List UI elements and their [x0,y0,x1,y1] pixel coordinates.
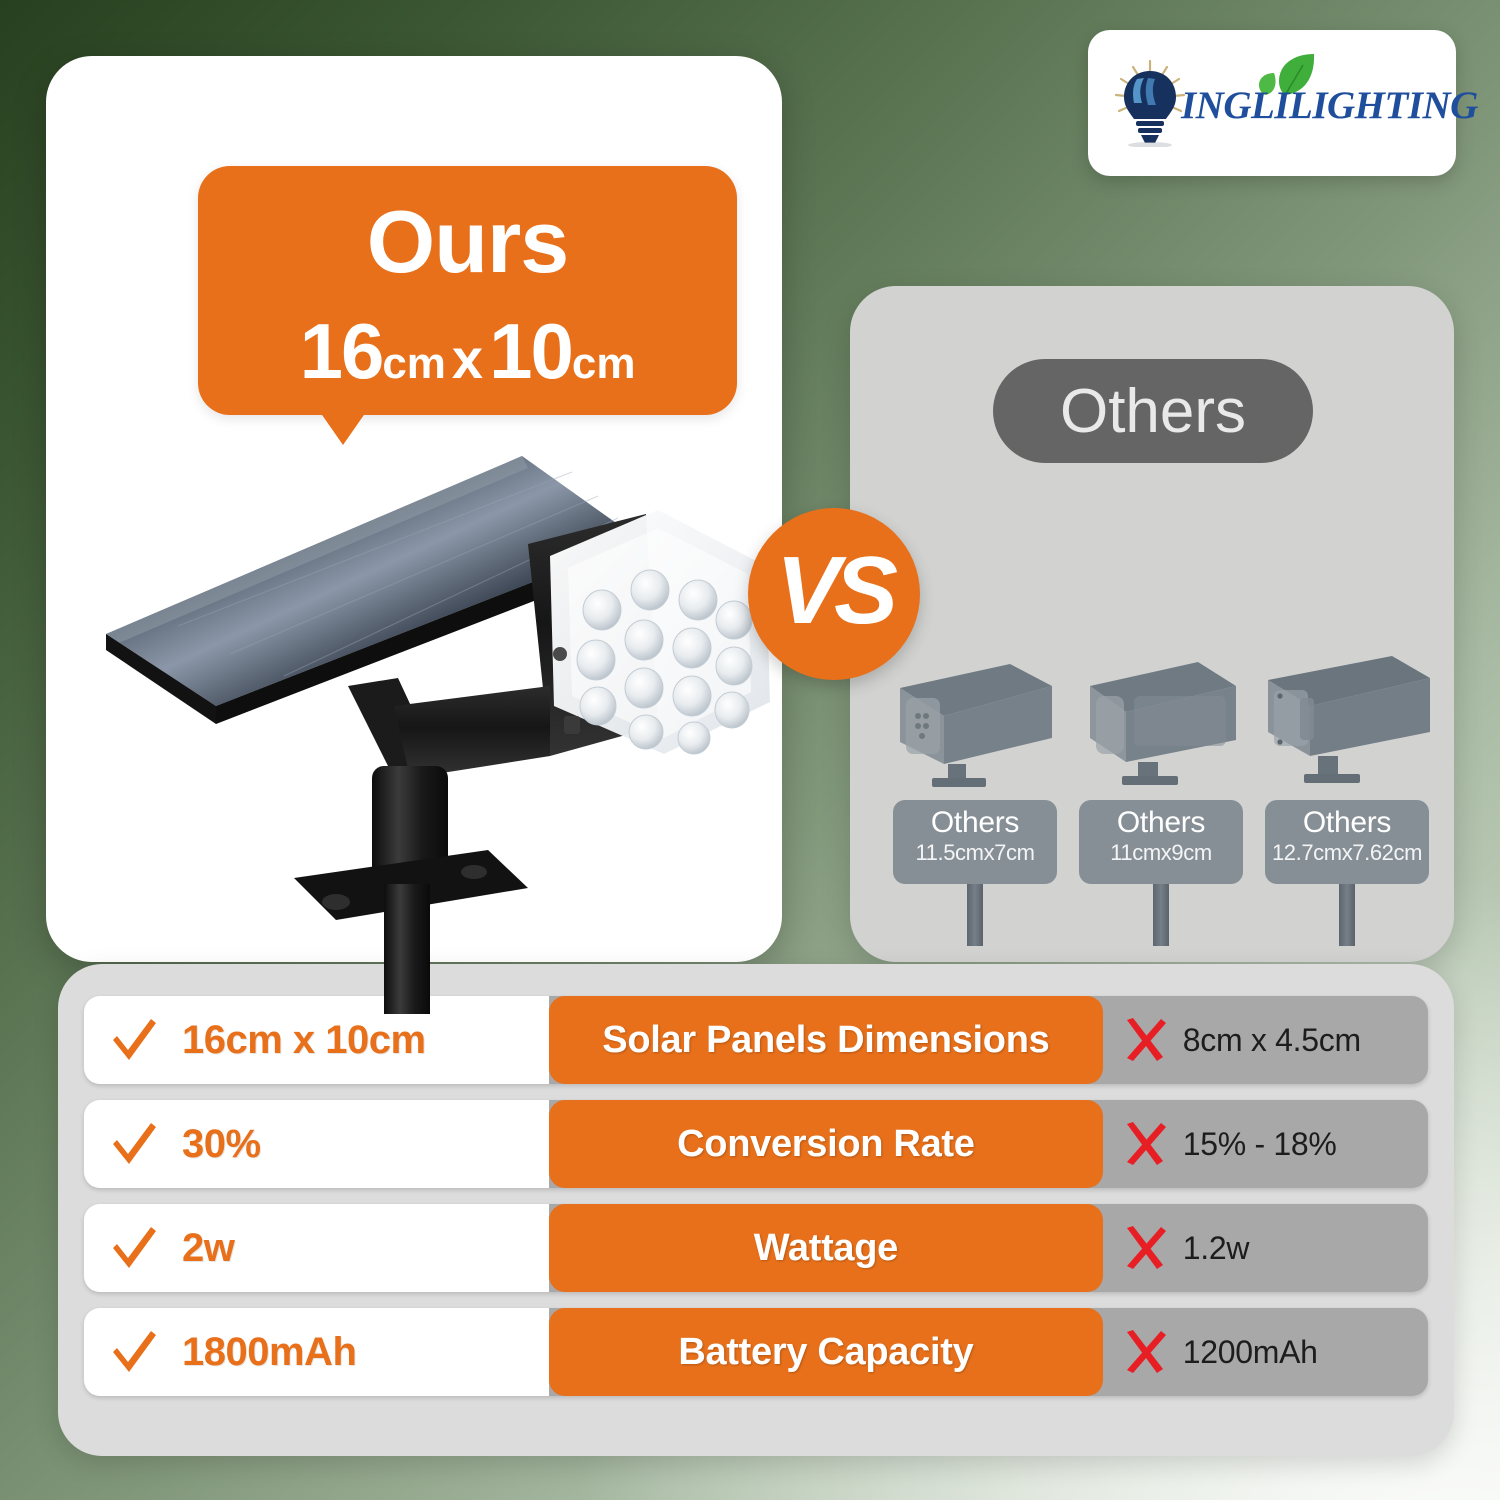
ours-card: Ours 16cmx10cm [46,56,782,962]
ours-height-unit: cm [572,339,636,388]
others-value: 1.2w [1183,1230,1249,1267]
others-badge: Others [993,359,1313,463]
competitor-lamp-3: Others 12.7cmx7.62cm [1254,646,1440,884]
feature-label-pill: Wattage [549,1204,1103,1292]
red-cross-icon [1121,1329,1167,1375]
red-cross-icon [1121,1121,1167,1167]
brand-logo-card: INGLILIGHTING [1088,30,1456,176]
competitor-lamp-icon [1068,646,1254,794]
competitor-lamp-2: Others 11cmx9cm [1068,646,1254,884]
vs-label: VS [776,543,892,639]
solar-spotlight-product [98,448,798,1014]
others-card: Others [850,286,1454,962]
others-value: 15% - 18% [1183,1126,1337,1163]
ours-cell: 30% [84,1100,549,1188]
feature-label: Conversion Rate [677,1123,974,1166]
feature-label: Solar Panels Dimensions [602,1019,1049,1062]
ours-height-value: 10 [489,307,572,395]
ours-badge-pointer [320,412,366,445]
brand-logo-text: INGLILIGHTING [1181,83,1478,128]
others-badge-title: Others [1060,376,1246,447]
lamp-label-plate: Others 11.5cmx7cm [893,800,1057,884]
ours-value: 1800mAh [182,1330,356,1375]
lamp-size: 11.5cmx7cm [893,839,1057,867]
ours-width-unit: cm [382,339,446,388]
ours-value: 16cm x 10cm [182,1018,426,1063]
ours-badge: Ours 16cmx10cm [198,166,737,415]
orange-check-icon [108,1014,160,1066]
feature-label-pill: Conversion Rate [549,1100,1103,1188]
lamp-title: Others [1079,807,1243,839]
lamp-title: Others [1265,807,1429,839]
ours-badge-title: Ours [198,166,737,286]
ours-width-value: 16 [300,307,383,395]
competitor-lamp-1: Others 11.5cmx7cm [882,646,1068,884]
competitor-lamp-icon [1254,646,1440,794]
lamp-size: 12.7cmx7.62cm [1265,839,1429,867]
lamp-title: Others [893,807,1057,839]
orange-check-icon [108,1118,160,1170]
others-value: 1200mAh [1183,1334,1318,1371]
others-value: 8cm x 4.5cm [1183,1022,1361,1059]
comparison-table: 16cm x 10cm Solar Panels Dimensions 8cm … [58,964,1454,1456]
infographic-canvas: Ours 16cmx10cm [0,0,1500,1500]
ours-cell: 2w [84,1204,549,1292]
vs-badge: VS [748,508,920,680]
feature-label-pill: Battery Capacity [549,1308,1103,1396]
feature-label: Battery Capacity [678,1331,973,1374]
orange-check-icon [108,1222,160,1274]
table-row: 30% Conversion Rate 15% - 18% [84,1100,1428,1188]
ours-badge-dimensions: 16cmx10cm [198,286,737,397]
red-cross-icon [1121,1225,1167,1271]
lamp-label-plate: Others 12.7cmx7.62cm [1265,800,1429,884]
others-cell: 1200mAh [1103,1308,1428,1396]
lamp-size: 11cmx9cm [1079,839,1243,867]
feature-label: Wattage [754,1227,898,1270]
competitor-lamp-icon [882,646,1068,794]
red-cross-icon [1121,1017,1167,1063]
table-row: 2w Wattage 1.2w [84,1204,1428,1292]
table-row: 1800mAh Battery Capacity 1200mAh [84,1308,1428,1396]
ours-value: 30% [182,1122,261,1167]
others-cell: 15% - 18% [1103,1100,1428,1188]
ours-dimension-separator: x [446,327,489,390]
competitor-lamp-group: Others 11.5cmx7cm Others 1 [872,646,1432,946]
ours-cell: 1800mAh [84,1308,549,1396]
brand-logo: INGLILIGHTING [1107,55,1437,151]
orange-check-icon [108,1326,160,1378]
others-cell: 1.2w [1103,1204,1428,1292]
ours-value: 2w [182,1226,234,1271]
lamp-label-plate: Others 11cmx9cm [1079,800,1243,884]
others-cell: 8cm x 4.5cm [1103,996,1428,1084]
